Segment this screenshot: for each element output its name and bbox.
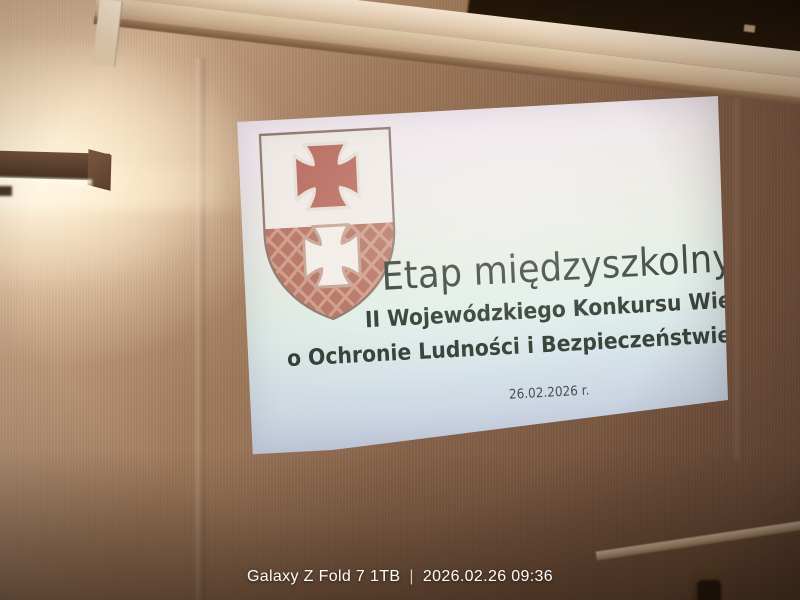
wall-sconce-mount <box>0 186 12 196</box>
watermark-separator: | <box>409 568 414 586</box>
slide-date: 26.02.2026 r. <box>368 376 729 411</box>
slide-surface: Etap międzyszkolny II Wojewódzkiego Konk… <box>237 94 734 454</box>
slide-title: Etap międzyszkolny <box>380 236 715 299</box>
photo-canvas: Etap międzyszkolny II Wojewódzkiego Konk… <box>0 0 800 600</box>
ceiling-fitting <box>744 24 756 32</box>
projected-slide: Etap międzyszkolny II Wojewódzkiego Konk… <box>237 96 728 460</box>
watermark-device: Galaxy Z Fold 7 1TB <box>247 568 400 586</box>
slide-subtitle-line-2: o Ochronie Ludności i Bezpieczeństwie Po… <box>286 323 729 372</box>
watermark-timestamp: 2026.02.26 09:36 <box>423 568 553 586</box>
camera-watermark: Galaxy Z Fold 7 1TB | 2026.02.26 09:36 <box>0 568 800 586</box>
